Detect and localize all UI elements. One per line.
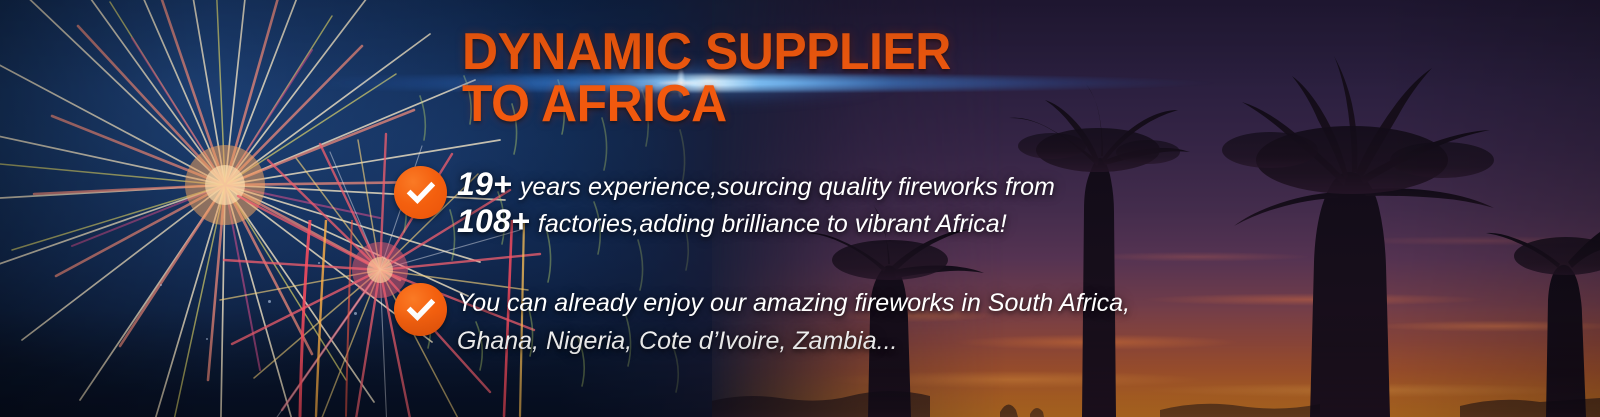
bullet-text: 19+years experience,sourcing quality fir…	[457, 166, 1055, 241]
bullet-row-text: You can already enjoy our amazing firewo…	[457, 289, 1130, 317]
check-circle-icon	[394, 283, 447, 336]
bullet-row: You can already enjoy our amazing firewo…	[457, 284, 1130, 322]
bullet-text: You can already enjoy our amazing firewo…	[457, 283, 1130, 360]
bullet-row: 108+factories,adding brilliance to vibra…	[457, 204, 1055, 241]
bullet-row-text: Ghana, Nigeria, Cote d’Ivoire, Zambia...	[457, 327, 897, 355]
bullet-list: 19+years experience,sourcing quality fir…	[394, 166, 1130, 360]
bullet-row-text: years experience,sourcing quality firewo…	[520, 173, 1055, 201]
check-circle-icon	[394, 166, 447, 219]
bullet-row-text: factories,adding brilliance to vibrant A…	[538, 210, 1007, 238]
bullet-row: 19+years experience,sourcing quality fir…	[457, 167, 1055, 204]
headline-line-2: TO AFRICA	[462, 81, 951, 129]
bullet-item: 19+years experience,sourcing quality fir…	[394, 166, 1130, 241]
headline-line-1: DYNAMIC SUPPLIER	[462, 29, 951, 77]
headline: DYNAMIC SUPPLIER TO AFRICA	[462, 29, 971, 129]
bullet-item: You can already enjoy our amazing firewo…	[394, 283, 1130, 360]
banner-content: DYNAMIC SUPPLIER TO AFRICA 19+years expe…	[0, 0, 1600, 417]
promo-banner: DYNAMIC SUPPLIER TO AFRICA 19+years expe…	[0, 0, 1600, 417]
bullet-row: Ghana, Nigeria, Cote d’Ivoire, Zambia...	[457, 322, 1130, 360]
bullet-emphasis: 19+	[457, 166, 512, 202]
bullet-emphasis: 108+	[457, 203, 530, 239]
